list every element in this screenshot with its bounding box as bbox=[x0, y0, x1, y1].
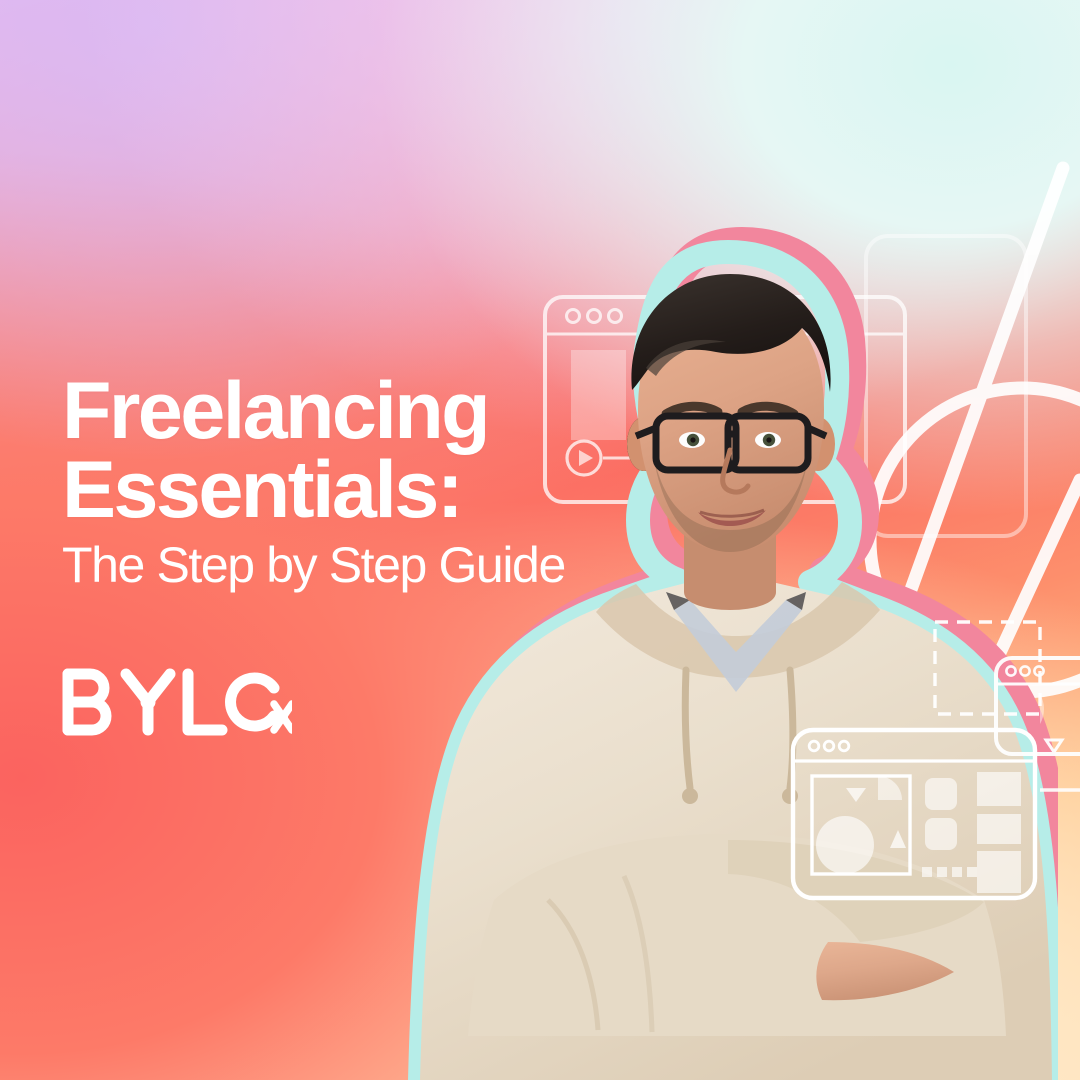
portrait-photo bbox=[398, 200, 1058, 1080]
promo-card: Freelancing Essentials: The Step by Step… bbox=[0, 0, 1080, 1080]
logo-node bbox=[141, 695, 156, 710]
hood-string bbox=[790, 670, 793, 788]
bylcx-logo bbox=[60, 668, 292, 736]
page-subtitle: The Step by Step Guide bbox=[62, 539, 682, 592]
page-title: Freelancing Essentials: bbox=[62, 372, 682, 531]
hero-copy: Freelancing Essentials: The Step by Step… bbox=[62, 372, 682, 592]
logo-node bbox=[278, 712, 288, 722]
